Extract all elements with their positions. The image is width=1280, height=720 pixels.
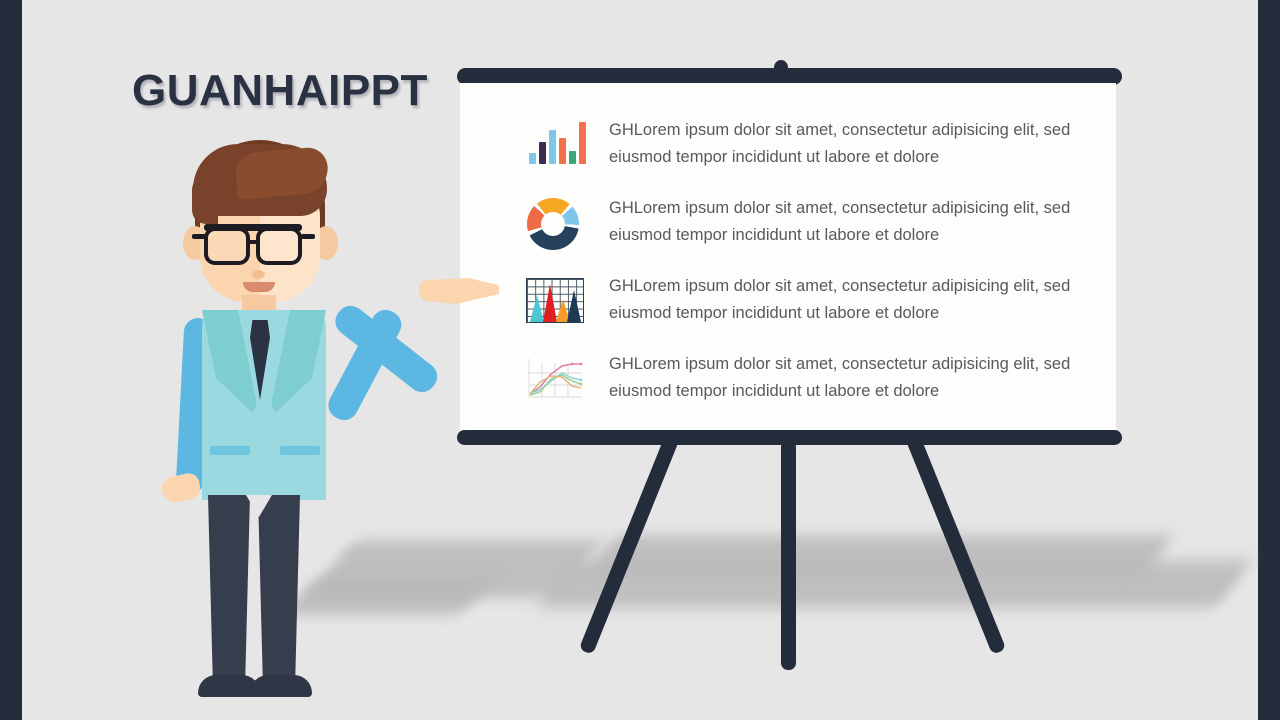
list-item[interactable]: GHLorem ipsum dolor sit amet, consectetu… [525, 339, 1105, 417]
presentation-slide: GUANHAIPPT GHLorem ipsum do [0, 0, 1280, 720]
page-title: GUANHAIPPT [132, 66, 428, 116]
shoe-right [250, 675, 312, 697]
easel-leg-center [781, 440, 796, 670]
hand-right-presenting [419, 278, 499, 304]
glasses-top-bar [204, 224, 302, 231]
glasses-lens-right [256, 227, 302, 265]
list-item[interactable]: GHLorem ipsum dolor sit amet, consectetu… [525, 105, 1105, 183]
easel-shadow-2 [587, 535, 1173, 575]
trouser-leg-right [258, 495, 300, 690]
list-item[interactable]: GHLorem ipsum dolor sit amet, consectetu… [525, 183, 1105, 261]
glasses-bridge [248, 240, 258, 244]
list-item[interactable]: GHLorem ipsum dolor sit amet, consectetu… [525, 261, 1105, 339]
list-item-label: GHLorem ipsum dolor sit amet, consectetu… [609, 195, 1105, 248]
hair-sideburn [192, 174, 218, 224]
bullet-list: GHLorem ipsum dolor sit amet, consectetu… [525, 105, 1105, 417]
jacket-pocket-right [280, 446, 320, 455]
glasses-arm-right [301, 234, 315, 239]
list-item-label: GHLorem ipsum dolor sit amet, consectetu… [609, 117, 1105, 170]
jacket-pocket-left [210, 446, 250, 455]
glasses-lens-left [204, 227, 250, 265]
easel-bottom-bar [457, 430, 1122, 445]
presenter-character [140, 130, 540, 675]
mouth [243, 282, 275, 292]
nose [252, 270, 265, 279]
hand-left [160, 471, 203, 504]
right-edge-bar [1258, 0, 1280, 720]
glasses-arm-left [192, 234, 206, 239]
left-edge-bar [0, 0, 22, 720]
list-item-label: GHLorem ipsum dolor sit amet, consectetu… [609, 351, 1105, 404]
whiteboard-panel: GHLorem ipsum dolor sit amet, consectetu… [460, 83, 1116, 431]
trouser-leg-left [208, 495, 250, 690]
list-item-label: GHLorem ipsum dolor sit amet, consectetu… [609, 273, 1105, 326]
